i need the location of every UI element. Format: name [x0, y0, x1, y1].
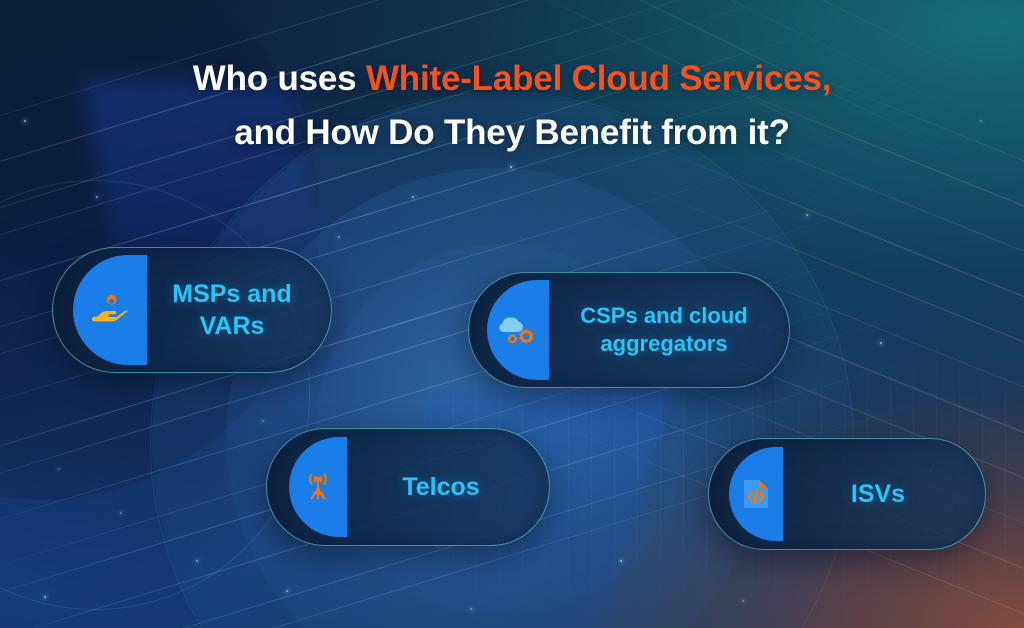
card-icon-holder-csps-and-cloud-aggregators — [487, 280, 549, 380]
card-icon-holder-msps-and-vars — [73, 255, 147, 365]
background-disc-middle — [226, 168, 766, 628]
card-icon-holder-telcos — [289, 437, 347, 537]
card-label-isvs: ISVs — [783, 478, 985, 510]
card-icon-holder-isvs — [729, 447, 783, 541]
title-line1-prefix: Who uses — [193, 59, 366, 98]
page-title: Who uses White-Label Cloud Services, and… — [0, 52, 1024, 160]
title-line1-accent: White-Label Cloud Services, — [366, 59, 831, 98]
title-line2: and How Do They Benefit from it? — [234, 113, 790, 152]
cloud-gears-icon — [499, 313, 537, 347]
card-msps-and-vars[interactable]: MSPs and VARs — [52, 247, 332, 373]
card-label-msps-and-vars: MSPs and VARs — [147, 278, 331, 342]
infographic-canvas: Who uses White-Label Cloud Services, and… — [0, 0, 1024, 628]
card-csps-and-cloud-aggregators[interactable]: CSPs and cloud aggregators — [468, 272, 790, 388]
code-document-icon — [740, 477, 772, 511]
card-label-telcos: Telcos — [347, 471, 549, 503]
hand-holding-gear-icon — [91, 293, 129, 327]
antenna-broadcast-icon — [301, 470, 335, 504]
card-telcos[interactable]: Telcos — [266, 428, 550, 546]
card-isvs[interactable]: ISVs — [708, 438, 986, 550]
card-label-csps-and-cloud-aggregators: CSPs and cloud aggregators — [549, 302, 789, 358]
background-ring-left — [0, 180, 310, 610]
